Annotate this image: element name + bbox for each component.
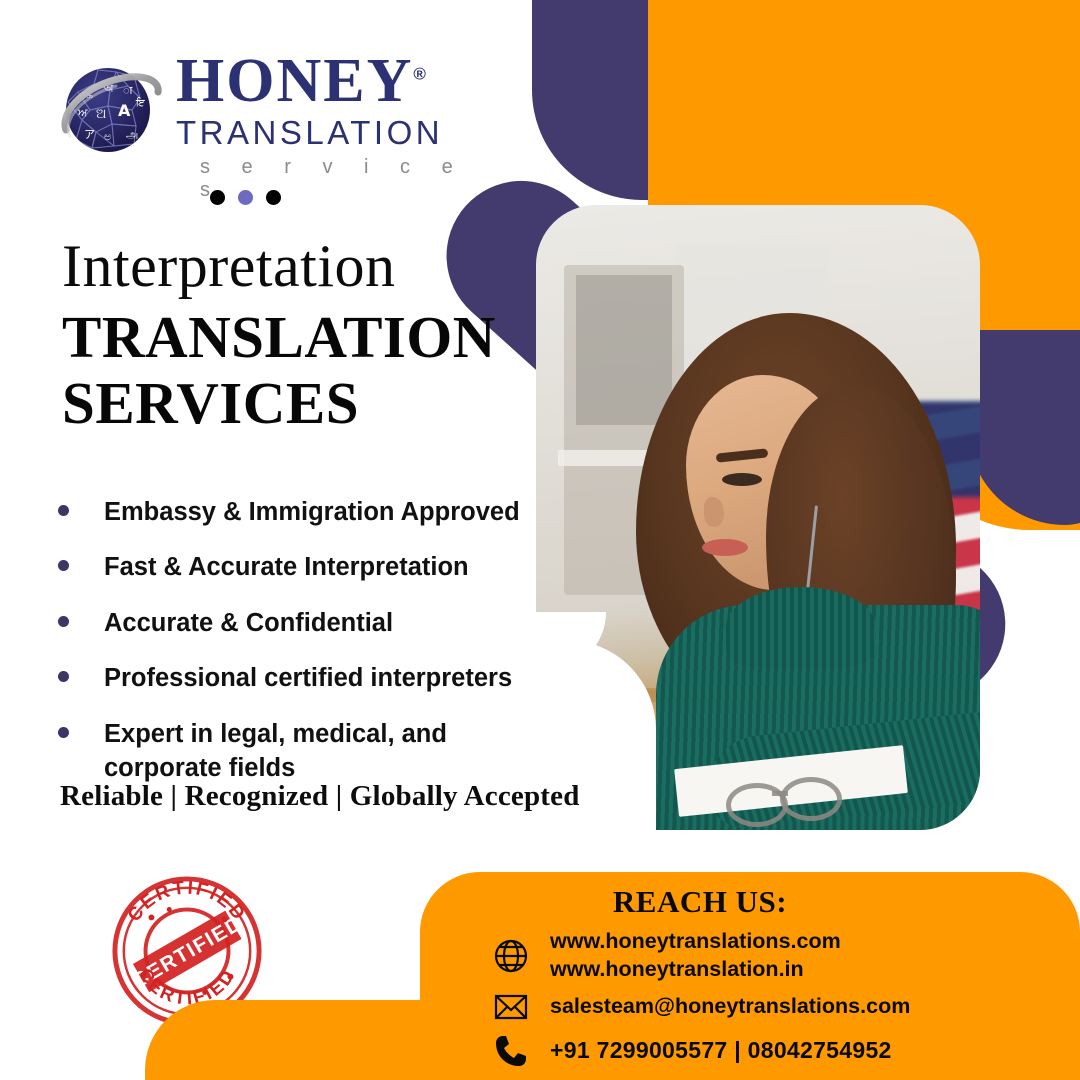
bullet-dot-icon bbox=[58, 505, 69, 516]
svg-text:ा: ा bbox=[123, 84, 133, 97]
headline-main: TRANSLATION SERVICES bbox=[62, 304, 532, 436]
globe-languages-icon: க অ ा ਅ ଅ A ਇ ア ಅ அ bbox=[56, 58, 164, 166]
svg-text:A: A bbox=[118, 101, 131, 120]
registered-mark: ® bbox=[413, 64, 428, 83]
list-item-label: Embassy & Immigration Approved bbox=[104, 495, 520, 529]
dot-1 bbox=[210, 190, 225, 205]
website-text: www.honeytranslations.com www.honeytrans… bbox=[550, 928, 841, 984]
contact-row-website[interactable]: www.honeytranslations.com www.honeytrans… bbox=[492, 928, 841, 984]
list-item: Fast & Accurate Interpretation bbox=[58, 550, 558, 584]
svg-text:CERTIFIED: CERTIFIED bbox=[123, 876, 251, 925]
envelope-icon bbox=[492, 988, 530, 1026]
website-line-2: www.honeytranslation.in bbox=[550, 957, 804, 981]
list-item: Accurate & Confidential bbox=[58, 606, 558, 640]
feature-list: Embassy & Immigration Approved Fast & Ac… bbox=[58, 495, 558, 807]
svg-text:ア: ア bbox=[84, 128, 95, 141]
headline-main-line1: TRANSLATION bbox=[62, 304, 532, 370]
list-item-label: Expert in legal, medical, and corporate … bbox=[104, 717, 454, 786]
dot-2 bbox=[238, 190, 253, 205]
list-item-label: Professional certified interpreters bbox=[104, 661, 512, 695]
list-item-label: Fast & Accurate Interpretation bbox=[104, 550, 469, 584]
dot-3 bbox=[266, 190, 281, 205]
list-item: Expert in legal, medical, and corporate … bbox=[58, 717, 558, 786]
svg-text:ଅ: ଅ bbox=[96, 107, 106, 122]
svg-text:ಅ: ಅ bbox=[104, 130, 111, 143]
email-text: salesteam@honeytranslations.com bbox=[550, 993, 910, 1021]
bullet-dot-icon bbox=[58, 727, 69, 738]
bullet-dot-icon bbox=[58, 671, 69, 682]
phone-text: +91 7299005577 | 08042754952 bbox=[550, 1036, 892, 1066]
headline-script: Interpretation bbox=[62, 235, 532, 298]
globe-icon bbox=[492, 937, 530, 975]
list-item-label: Accurate & Confidential bbox=[104, 606, 393, 640]
brand-line-translation: TRANSLATION bbox=[176, 114, 476, 152]
brand-logo: க অ ा ਅ ଅ A ਇ ア ಅ அ HONEY® TRANSLATION s… bbox=[56, 50, 476, 180]
bullet-dot-icon bbox=[58, 616, 69, 627]
list-item: Professional certified interpreters bbox=[58, 661, 558, 695]
decorative-dots bbox=[210, 190, 281, 205]
bullet-dot-icon bbox=[58, 560, 69, 571]
tagline: Reliable | Recognized | Globally Accepte… bbox=[60, 780, 580, 813]
poster-canvas: க অ ा ਅ ଅ A ਇ ア ಅ அ HONEY® TRANSLATION s… bbox=[0, 0, 1080, 1080]
phone-icon bbox=[492, 1032, 530, 1070]
list-item: Embassy & Immigration Approved bbox=[58, 495, 558, 529]
svg-text:ਇ: ਇ bbox=[135, 97, 145, 109]
contact-row-phone[interactable]: +91 7299005577 | 08042754952 bbox=[492, 1032, 892, 1070]
contact-row-email[interactable]: salesteam@honeytranslations.com bbox=[492, 988, 910, 1026]
brand-name: HONEY® bbox=[176, 50, 476, 112]
headline-block: Interpretation TRANSLATION SERVICES bbox=[62, 235, 532, 436]
svg-text:அ: அ bbox=[126, 128, 138, 141]
headline-main-line2: SERVICES bbox=[62, 370, 532, 436]
contact-heading: REACH US: bbox=[420, 884, 980, 920]
website-line-1: www.honeytranslations.com bbox=[550, 929, 841, 953]
